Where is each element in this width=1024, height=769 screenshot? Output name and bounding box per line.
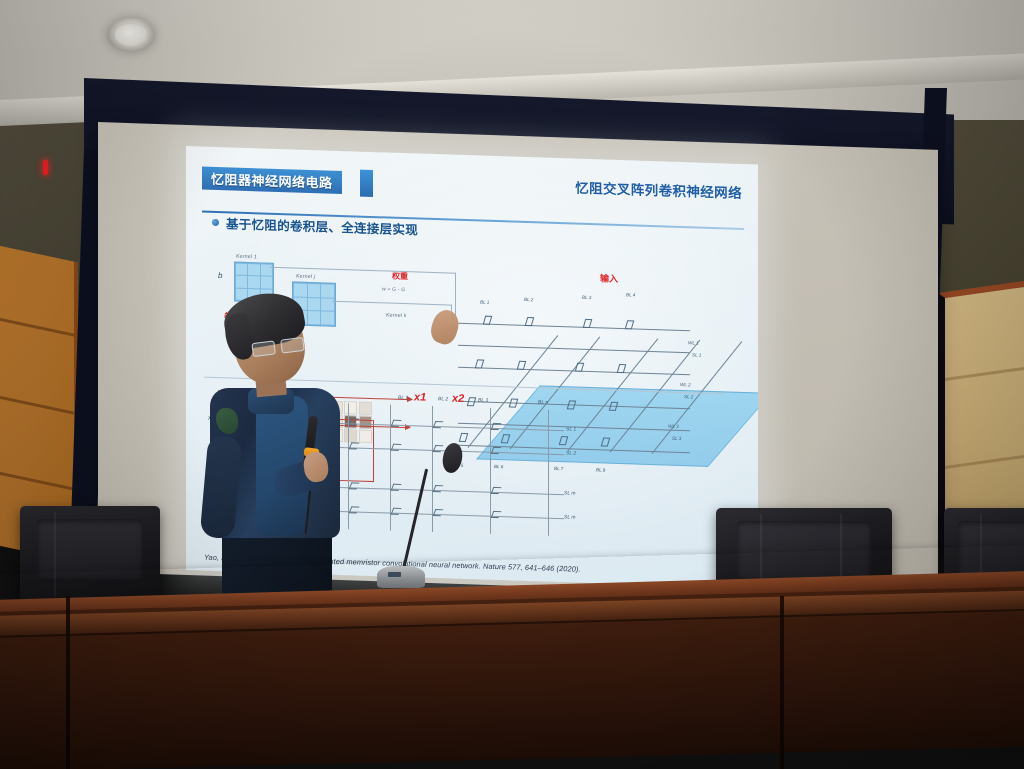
bitline-label: BL 3 — [582, 295, 591, 300]
table-panel-seam — [780, 596, 784, 769]
fc-sourceline-label: SL 2 — [566, 450, 576, 456]
fc-sourceline-label: SL m — [564, 490, 576, 496]
sourceline-label: SL 2 — [684, 394, 693, 399]
bitline-label: BL 4 — [626, 292, 635, 297]
wordline-label: WL 1 — [688, 340, 699, 345]
panel-letter: b — [218, 271, 222, 280]
sourceline-label: SL 1 — [692, 352, 701, 357]
bullet-dot-icon — [212, 219, 219, 226]
screenshot-root: 忆阻器神经网络电路 忆阻交叉阵列卷积神经网络 基于忆阻的卷积层、全连接层实现 b… — [0, 0, 1024, 769]
kernel-1-label: Kernel 1 — [236, 254, 257, 261]
microphone-indicator — [388, 572, 401, 577]
weight-annotation: 权重 — [392, 271, 408, 283]
slide-section-tag: 忆阻器神经网络电路 — [202, 167, 342, 195]
bitline-label: BL 2 — [524, 297, 533, 302]
microphone-base — [377, 566, 425, 588]
slide-subtitle: 忆阻交叉阵列卷积神经网络 — [575, 177, 742, 202]
presenter — [196, 296, 456, 596]
fc-bitline-label: BL 3 — [478, 397, 488, 403]
slide-header: 忆阻器神经网络电路 忆阻交叉阵列卷积神经网络 — [202, 165, 744, 213]
fc-bitline-label: BL n — [538, 399, 548, 405]
wordline-label: WL 2 — [680, 382, 691, 387]
fc-sourceline-label: SL 1 — [566, 426, 576, 432]
kernel-j-label: Kernel j — [296, 274, 315, 281]
fc-sourceline-label: SL m — [564, 514, 576, 520]
weight-formula: w = G - G — [382, 286, 405, 293]
bitline-label: BL 1 — [480, 299, 489, 304]
table-panel-seam — [66, 596, 70, 769]
downlight-icon — [107, 18, 155, 52]
red-led-indicator-icon — [43, 160, 48, 175]
slide-tag-accent-box — [360, 170, 373, 197]
input-annotation: 输入 — [600, 271, 618, 285]
